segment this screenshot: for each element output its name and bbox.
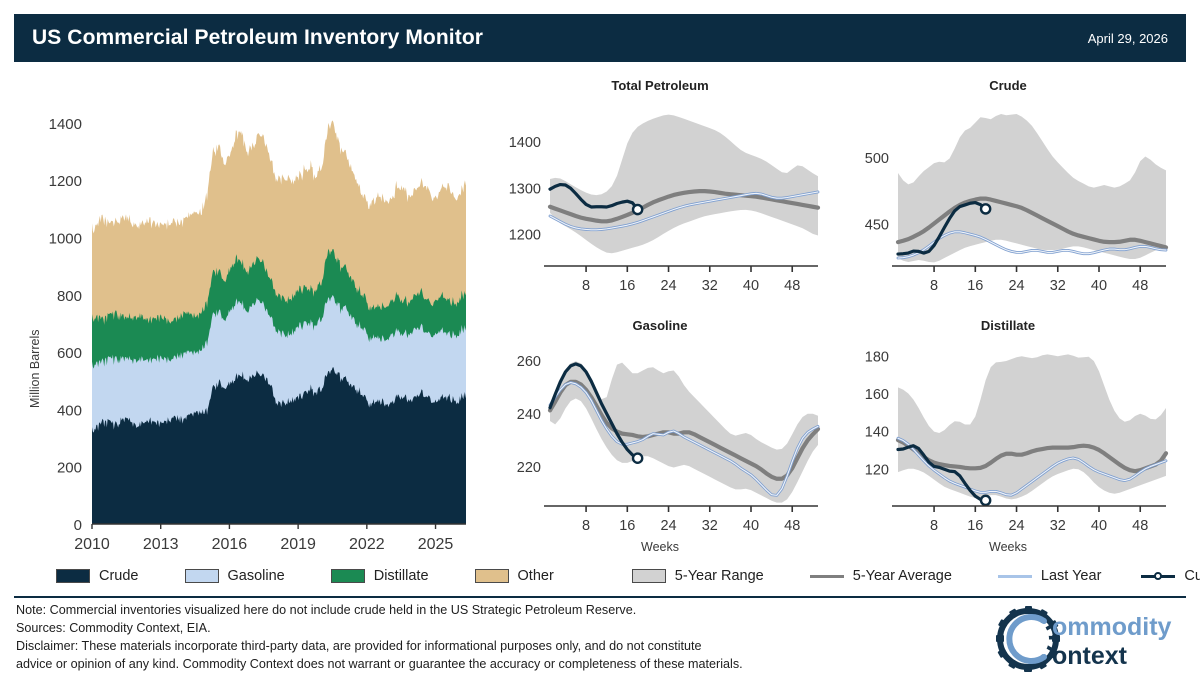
legend-item-other[interactable]: Other xyxy=(475,568,554,584)
footer-disclaimer-line2: advice or opinion of any kind. Commodity… xyxy=(16,656,976,673)
footer-sources: Sources: Commodity Context, EIA. xyxy=(16,620,976,637)
report-date: April 29, 2026 xyxy=(1088,31,1168,46)
main-xtick-2016: 2016 xyxy=(212,536,248,553)
main-xtick-2019: 2019 xyxy=(280,536,316,553)
legend-line-last-year xyxy=(998,569,1032,583)
legend-swatch-five-year-range xyxy=(632,569,666,583)
panel-ytick-180: 180 xyxy=(865,349,889,365)
panel-gasoline: Gasoline 22024026081624324048 Weeks xyxy=(492,318,828,560)
main-ytick-400: 400 xyxy=(57,402,82,419)
panel-svg-distillate: 12014016018081624324048 xyxy=(840,318,1176,544)
panel-xtick-24: 24 xyxy=(1008,518,1024,534)
panel-distillate: Distillate 12014016018081624324048 Weeks xyxy=(840,318,1176,560)
panel-xtick-48: 48 xyxy=(1132,278,1148,294)
logo-word-bottom: ontext xyxy=(1052,642,1128,670)
legend-item-distillate[interactable]: Distillate xyxy=(331,568,429,584)
main-ytick-0: 0 xyxy=(74,517,82,534)
legend-swatch-gasoline xyxy=(185,569,219,583)
panel-total-petroleum: Total Petroleum 12001300140081624324048 xyxy=(492,78,828,304)
legend-label-last-year: Last Year xyxy=(1041,568,1101,584)
main-ytick-600: 600 xyxy=(57,345,82,362)
footer-divider xyxy=(14,596,1186,598)
main-chart-areas xyxy=(92,120,466,524)
page-title: US Commercial Petroleum Inventory Monito… xyxy=(32,26,483,50)
legend-label-distillate: Distillate xyxy=(374,568,429,584)
legend-swatch-distillate xyxy=(331,569,365,583)
panel-xtick-40: 40 xyxy=(743,518,759,534)
legend-item-five-year-range[interactable]: 5-Year Range xyxy=(632,568,764,584)
main-ytick-1200: 1200 xyxy=(49,173,82,190)
footer-notes: Note: Commercial inventories visualized … xyxy=(16,602,976,674)
panel-ytick-120: 120 xyxy=(865,462,889,478)
five-year-range-band xyxy=(898,354,1166,499)
panel-svg-gasoline: 22024026081624324048 xyxy=(492,318,828,544)
panel-ytick-260: 260 xyxy=(517,354,541,370)
panel-ytick-500: 500 xyxy=(865,151,889,167)
panel-xtick-16: 16 xyxy=(967,518,983,534)
panel-title-crude: Crude xyxy=(840,78,1176,93)
panel-svg-crude: 45050081624324048 xyxy=(840,78,1176,304)
panel-ytick-1400: 1400 xyxy=(509,135,541,151)
stacked-area-svg: 0200400600800100012001400201020132016201… xyxy=(14,78,474,560)
panel-xtick-16: 16 xyxy=(967,278,983,294)
footer-note: Note: Commercial inventories visualized … xyxy=(16,602,976,619)
panel-xtick-48: 48 xyxy=(784,518,800,534)
panel-ytick-450: 450 xyxy=(865,218,889,234)
panel-xtick-32: 32 xyxy=(702,278,718,294)
inventory-monitor-page: US Commercial Petroleum Inventory Monito… xyxy=(0,0,1200,685)
panel-xtick-48: 48 xyxy=(784,278,800,294)
main-xtick-2010: 2010 xyxy=(74,536,110,553)
panel-xtick-8: 8 xyxy=(582,278,590,294)
current-year-marker xyxy=(633,454,642,463)
panel-ytick-1300: 1300 xyxy=(509,181,541,197)
panel-title-distillate: Distillate xyxy=(840,318,1176,333)
legend-label-other: Other xyxy=(518,568,554,584)
panel-xtick-24: 24 xyxy=(1008,278,1024,294)
panel-xlabel-gasoline: Weeks xyxy=(492,540,828,554)
commodity-context-logo: ommodity ontext xyxy=(994,604,1184,674)
current-year-marker xyxy=(633,205,642,214)
panel-xtick-24: 24 xyxy=(660,278,676,294)
panel-ytick-1200: 1200 xyxy=(509,228,541,244)
panel-xtick-32: 32 xyxy=(1050,518,1066,534)
panel-ytick-140: 140 xyxy=(865,425,889,441)
panel-xtick-8: 8 xyxy=(930,278,938,294)
main-xtick-2022: 2022 xyxy=(349,536,385,553)
main-xtick-2025: 2025 xyxy=(418,536,454,553)
current-year-marker xyxy=(981,496,990,505)
panel-svg-total-petroleum: 12001300140081624324048 xyxy=(492,78,828,304)
legend-item-current-year[interactable]: Current Year xyxy=(1141,568,1200,584)
main-chart-ylabel: Million Barrels xyxy=(28,330,42,409)
main-ytick-200: 200 xyxy=(57,460,82,477)
panel-xtick-8: 8 xyxy=(930,518,938,534)
main-ytick-1000: 1000 xyxy=(49,231,82,248)
panel-xtick-24: 24 xyxy=(660,518,676,534)
page-header: US Commercial Petroleum Inventory Monito… xyxy=(14,14,1186,62)
footer-disclaimer-line1: Disclaimer: These materials incorporate … xyxy=(16,638,976,655)
five-year-range-band xyxy=(550,115,818,254)
legend-label-current-year: Current Year xyxy=(1184,568,1200,584)
legend-item-last-year[interactable]: Last Year xyxy=(998,568,1101,584)
panel-xlabel-distillate: Weeks xyxy=(840,540,1176,554)
stacked-area-chart: Million Barrels 020040060080010001200140… xyxy=(14,78,474,560)
main-ytick-1400: 1400 xyxy=(49,116,82,133)
panel-xtick-8: 8 xyxy=(582,518,590,534)
panel-xtick-32: 32 xyxy=(702,518,718,534)
legend-item-gasoline[interactable]: Gasoline xyxy=(185,568,285,584)
panel-title-gasoline: Gasoline xyxy=(492,318,828,333)
logo-word-top: ommodity xyxy=(1052,613,1172,641)
current-year-marker xyxy=(981,204,990,213)
panel-xtick-32: 32 xyxy=(1050,278,1066,294)
legend-marker-current-year xyxy=(1141,569,1175,583)
chart-legend: Crude Gasoline Distillate Other 5-Year R… xyxy=(0,562,1200,590)
logo-svg: ommodity ontext xyxy=(994,604,1184,674)
legend-line-five-year-average xyxy=(810,569,844,583)
panel-crude: Crude 45050081624324048 xyxy=(840,78,1176,304)
legend-swatch-other xyxy=(475,569,509,583)
panel-title-total-petroleum: Total Petroleum xyxy=(492,78,828,93)
panel-xtick-40: 40 xyxy=(743,278,759,294)
main-ytick-800: 800 xyxy=(57,288,82,305)
legend-label-five-year-range: 5-Year Range xyxy=(675,568,764,584)
panel-xtick-16: 16 xyxy=(619,518,635,534)
panel-ytick-240: 240 xyxy=(517,407,541,423)
legend-item-five-year-average[interactable]: 5-Year Average xyxy=(810,568,952,584)
panel-xtick-40: 40 xyxy=(1091,278,1107,294)
legend-swatch-crude xyxy=(56,569,90,583)
main-xtick-2013: 2013 xyxy=(143,536,179,553)
panel-xtick-48: 48 xyxy=(1132,518,1148,534)
panel-ytick-160: 160 xyxy=(865,387,889,403)
panel-xtick-16: 16 xyxy=(619,278,635,294)
legend-item-crude[interactable]: Crude xyxy=(56,568,139,584)
charts-region: Million Barrels 020040060080010001200140… xyxy=(0,70,1200,560)
legend-label-gasoline: Gasoline xyxy=(228,568,285,584)
panel-xtick-40: 40 xyxy=(1091,518,1107,534)
panel-ytick-220: 220 xyxy=(517,460,541,476)
legend-label-five-year-average: 5-Year Average xyxy=(853,568,952,584)
legend-label-crude: Crude xyxy=(99,568,139,584)
